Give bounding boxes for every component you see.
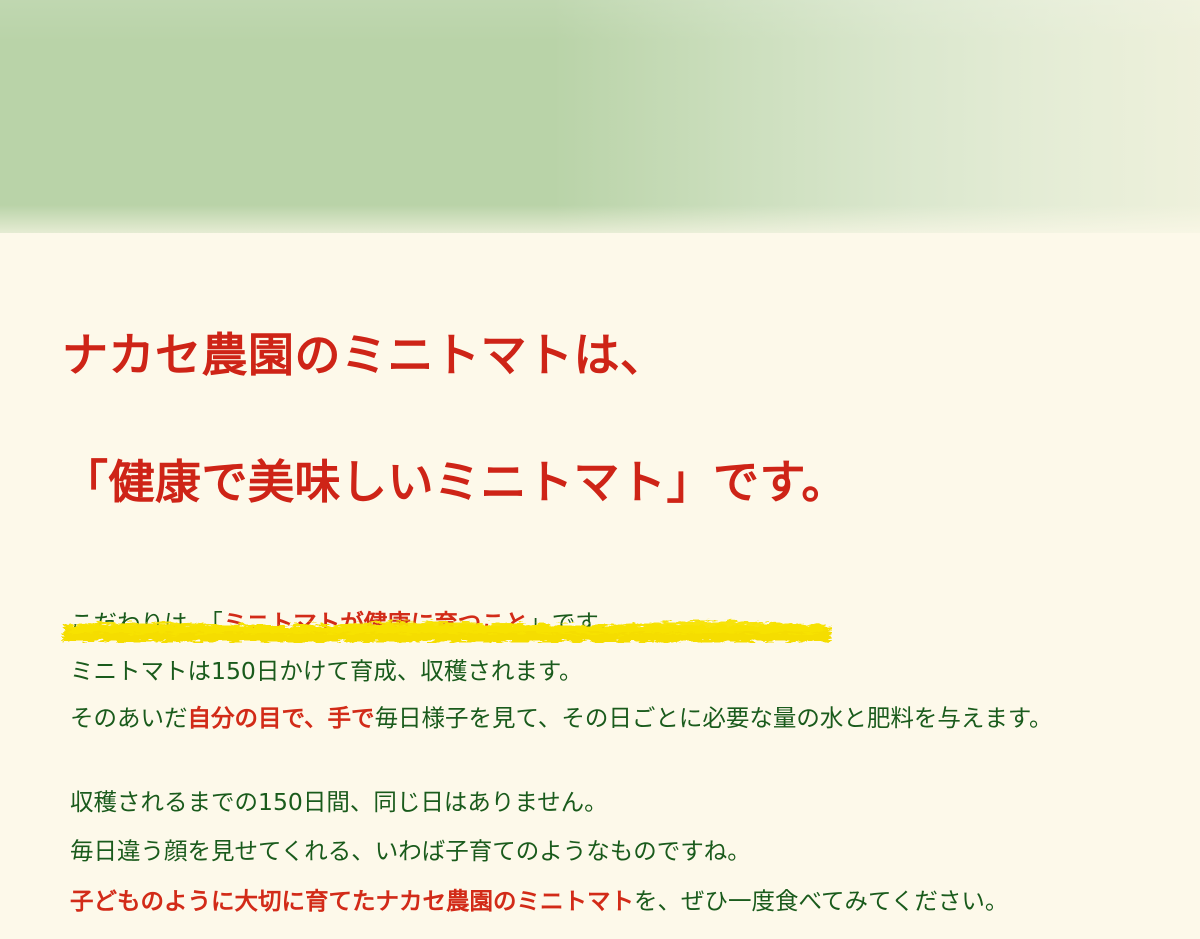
- p1l1-emphasis-red: ミニトマトが健康に育つこと: [223, 609, 529, 637]
- p1l2-text-a: ミニトマトは150日かけて育成、収穫されます。: [70, 657, 583, 685]
- p1l1-text-c: 」です。: [528, 609, 620, 637]
- promo-page: ナカセ農園のミニトマトは、 「健康で美味しいミニトマト」です。 こだわりは、「ミ…: [0, 0, 1200, 800]
- body-copy: こだわりは、「ミニトマトが健康に育つこと」です。 ミニトマトは150日かけて育成…: [0, 578, 1200, 939]
- tomato-greenhouse-image: [0, 0, 1200, 233]
- paragraph-1-line-3: そのあいだ自分の目で、手で毎日様子を見て、その日ごとに必要な量の水と肥料を与えま…: [70, 707, 1160, 755]
- headline-line-2: 「健康で美味しいミニトマト」です。: [62, 451, 1200, 514]
- headline-open-quote: 「: [62, 455, 109, 509]
- p1l3-text-c: 毎日様子を見て、その日ごとに必要な量の水と肥料を与えます。: [375, 704, 1053, 732]
- content-section: ナカセ農園のミニトマトは、 「健康で美味しいミニトマト」です。 こだわりは、「ミ…: [0, 233, 1200, 939]
- headline-highlighted-phrase: 健康で美味しいミニトマト: [109, 455, 667, 509]
- paragraph-1-line-2: ミニトマトは150日かけて育成、収穫されます。: [70, 660, 1160, 708]
- paragraph-2-line-2: 毎日違う顔を見せてくれる、いわば子育てのようなものですね。: [70, 840, 1160, 890]
- page-title: ナカセ農園のミニトマトは、 「健康で美味しいミニトマト」です。: [0, 233, 1200, 578]
- paragraph-2: 収穫されるまでの150日間、同じ日はありません。 毎日違う顔を見せてくれる、いわ…: [70, 755, 1160, 939]
- headline-close-quote: 」: [667, 455, 714, 509]
- p2l1-text-a: 収穫されるまでの150日間、同じ日はありません。: [70, 788, 608, 816]
- paragraph-1-line-1: こだわりは、「ミニトマトが健康に育つこと」です。: [70, 612, 1160, 660]
- p2l3-text-b: を、ぜひ一度食べてみてください。: [634, 887, 1008, 915]
- p1l3-text-a: そのあいだ: [70, 704, 188, 732]
- paragraph-1: こだわりは、「ミニトマトが健康に育つこと」です。 ミニトマトは150日かけて育成…: [70, 578, 1160, 755]
- paragraph-2-line-3: 子どものように大切に育てたナカセ農園のミニトマトを、ぜひ一度食べてみてください。: [70, 890, 1160, 939]
- hero-photo-banner: [0, 0, 1200, 233]
- paragraph-2-line-1: 収穫されるまでの150日間、同じ日はありません。: [70, 791, 1160, 841]
- p1l3-emphasis-red: 自分の目で、手で: [188, 704, 375, 732]
- p2l3-emphasis-red: 子どものように大切に育てたナカセ農園のミニトマト: [70, 887, 634, 915]
- headline-tail: です。: [713, 455, 848, 509]
- p2l2-text-a: 毎日違う顔を見せてくれる、いわば子育てのようなものですね。: [70, 837, 751, 865]
- headline-line-1: ナカセ農園のミニトマトは、: [62, 324, 1200, 387]
- p1l1-text-a: こだわりは、「: [70, 609, 223, 637]
